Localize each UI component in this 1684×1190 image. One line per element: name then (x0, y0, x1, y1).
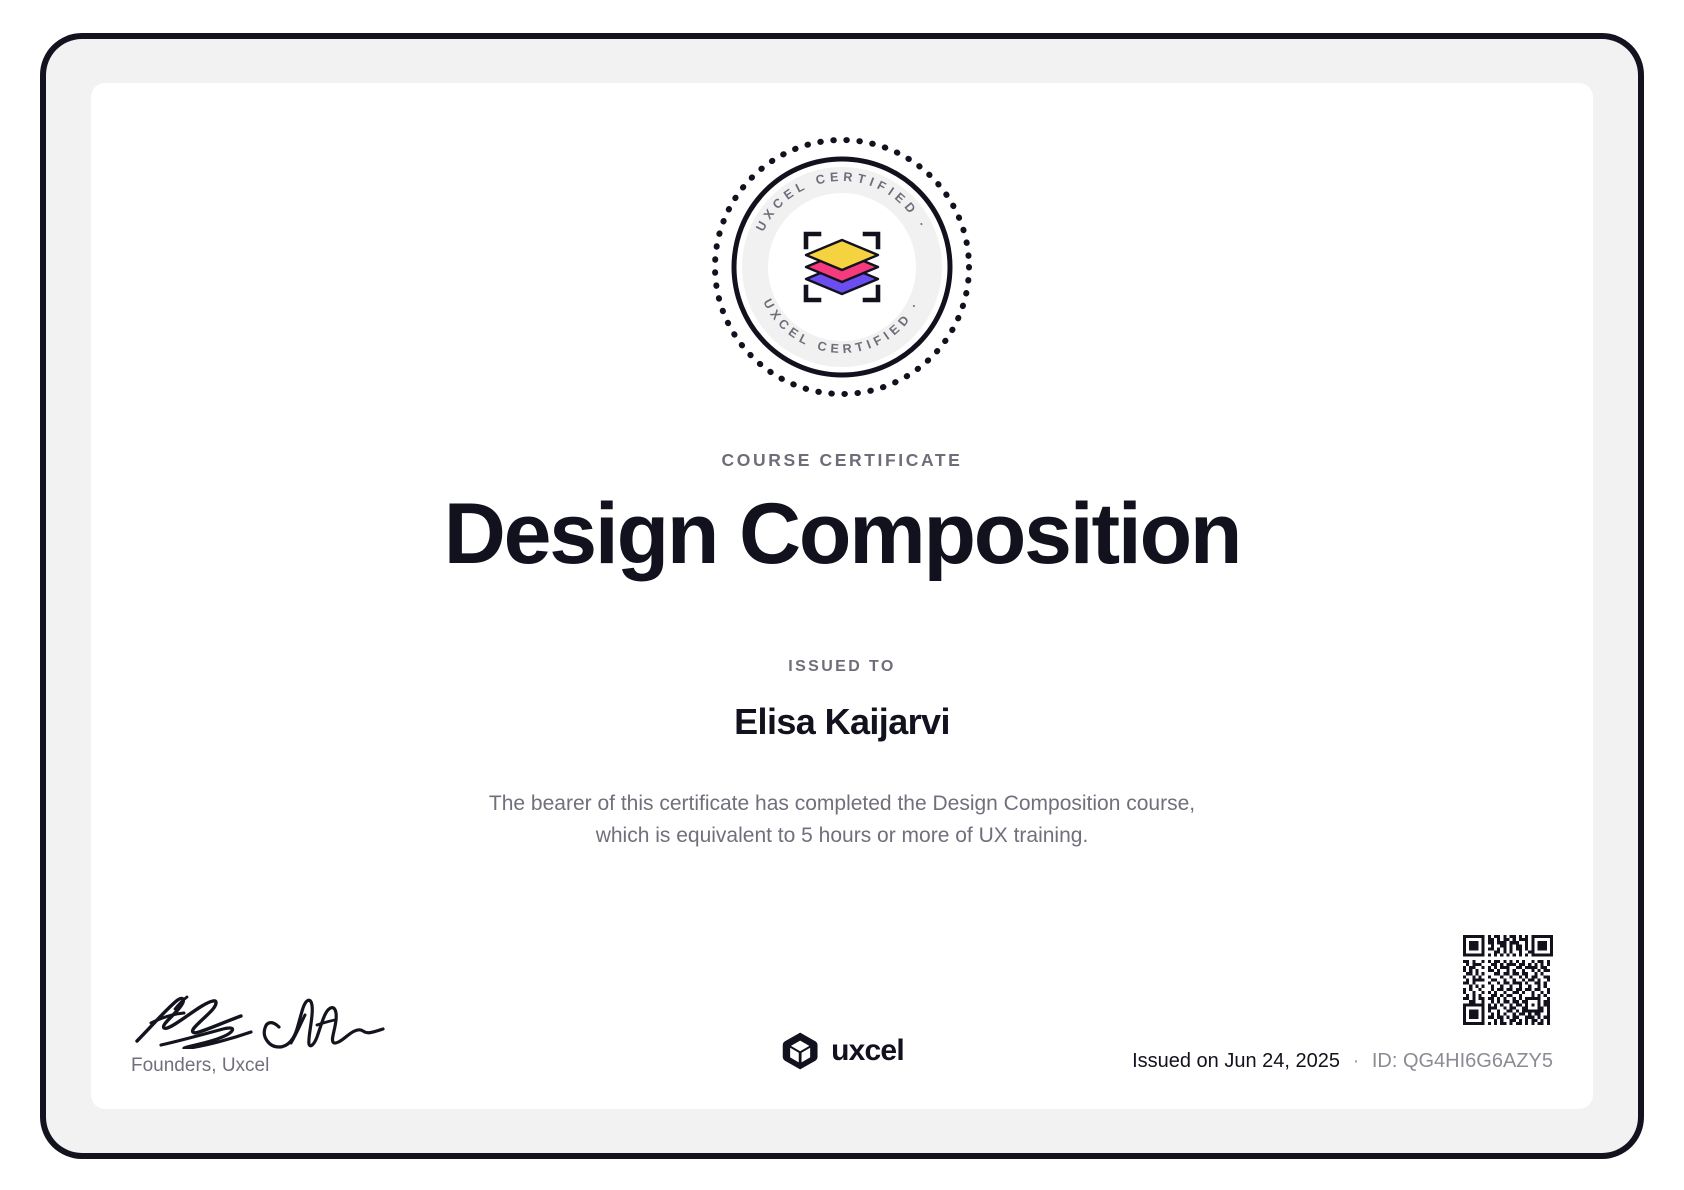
recipient-name: Elisa Kaijarvi (91, 701, 1593, 743)
seal-graphic: UXCEL CERTIFIED · UXCEL CERTIFIED · (706, 131, 978, 403)
certificate-description: The bearer of this certificate has compl… (91, 788, 1593, 852)
description-line-2: which is equivalent to 5 hours or more o… (91, 820, 1593, 852)
founders-signatures-icon (131, 971, 421, 1049)
issued-to-label: ISSUED TO (91, 658, 1593, 676)
qr-code[interactable] (1463, 935, 1553, 1025)
signature-block: Founders, Uxcel (131, 971, 471, 1077)
certificate-paper: UXCEL CERTIFIED · UXCEL CERTIFIED · (91, 83, 1593, 1109)
certificate-type-label: COURSE CERTIFICATE (91, 450, 1593, 471)
certificate-frame: UXCEL CERTIFIED · UXCEL CERTIFIED · (40, 33, 1644, 1159)
certificate-id: ID: QG4HI6G6AZY5 (1372, 1050, 1553, 1072)
issuance-meta-line: Issued on Jun 24, 2025 · ID: QG4HI6G6AZY… (1132, 1050, 1553, 1073)
course-title: Design Composition (91, 486, 1593, 582)
certificate-footer: Founders, Uxcel uxcel (131, 947, 1553, 1077)
uxcel-wordmark: uxcel (831, 1034, 904, 1068)
issued-on-date: Issued on Jun 24, 2025 (1132, 1050, 1340, 1072)
signature-caption: Founders, Uxcel (131, 1055, 471, 1077)
description-line-1: The bearer of this certificate has compl… (91, 788, 1593, 820)
uxcel-brand: uxcel (780, 1031, 904, 1071)
uxcel-hexagon-cube-icon (780, 1031, 820, 1071)
certification-seal: UXCEL CERTIFIED · UXCEL CERTIFIED · (706, 131, 978, 403)
meta-separator: · (1346, 1050, 1367, 1072)
certificate-mat: UXCEL CERTIFIED · UXCEL CERTIFIED · (46, 39, 1638, 1153)
